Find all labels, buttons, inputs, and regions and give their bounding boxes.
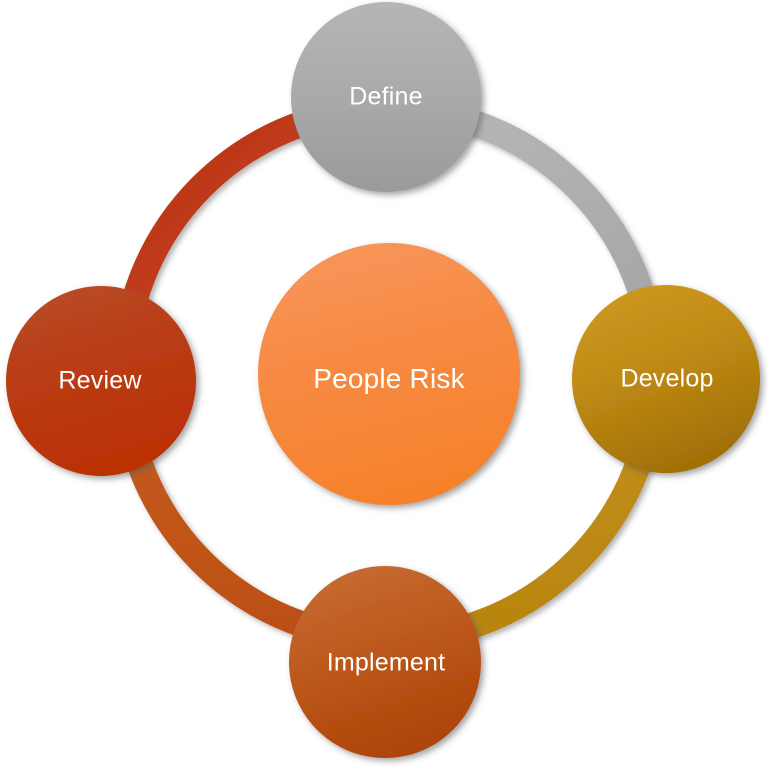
- node-define[interactable]: [291, 2, 481, 192]
- cycle-diagram-canvas: [0, 0, 768, 768]
- center-node-people-risk[interactable]: [258, 243, 520, 505]
- center-node-circle[interactable]: [258, 243, 520, 505]
- node-implement-circle[interactable]: [289, 566, 481, 758]
- people-risk-cycle-diagram: Define Develop Implement Review People R…: [0, 0, 768, 768]
- node-review-circle[interactable]: [6, 286, 196, 476]
- node-define-circle[interactable]: [291, 2, 481, 192]
- node-develop[interactable]: [572, 285, 760, 473]
- node-implement[interactable]: [289, 566, 481, 758]
- node-review[interactable]: [6, 286, 196, 476]
- node-develop-circle[interactable]: [572, 285, 760, 473]
